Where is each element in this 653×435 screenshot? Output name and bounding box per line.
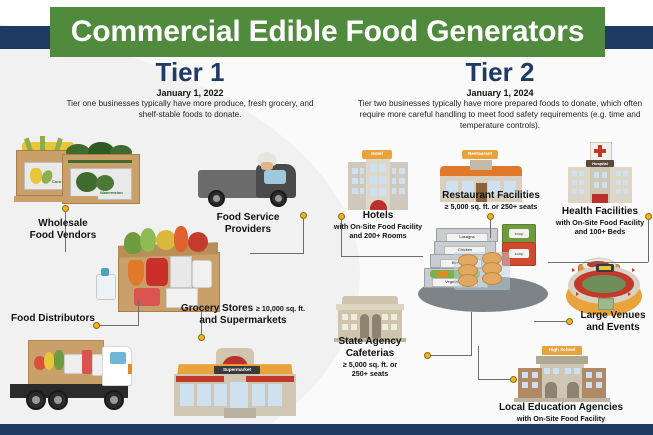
- wholesale-line2: Food Vendors: [8, 230, 118, 242]
- bottom-navy-band: [0, 424, 653, 435]
- stateagency-sub2: 250+ seats: [322, 369, 418, 378]
- foodservice-line1: Food Service: [196, 212, 300, 224]
- localeducation-line1: Local Education Agencies: [472, 402, 650, 414]
- dot-large-venues: [566, 318, 573, 325]
- largevenues-line2: and Events: [574, 322, 652, 334]
- health-sub1: with On-Site Food Facility: [552, 218, 648, 227]
- dot-food-service-providers: [300, 212, 307, 219]
- high-school-sign: High School: [542, 346, 582, 355]
- title-banner: Commercial Edible Food Generators: [50, 7, 605, 57]
- stateagency-line2: Cafeterias: [322, 348, 418, 360]
- connector-state-agency-h: [431, 355, 471, 356]
- dot-state-agency-cafeterias: [424, 352, 431, 359]
- crate-watermelon-label: Watermelon: [100, 190, 123, 195]
- hotel-sign: Hotel: [362, 150, 392, 159]
- largevenues-line1: Large Venues: [574, 310, 652, 322]
- connector-restaurant-v: [490, 220, 491, 238]
- connector-food-distributors-h: [100, 325, 138, 326]
- connector-local-education-h: [478, 379, 511, 380]
- restaurant-sub1: ≥ 5,000 sq. ft. or 250+ seats: [429, 202, 553, 211]
- label-hotels: Hotels with On-Site Food Facility and 20…: [330, 210, 426, 240]
- hotels-line1: Hotels: [330, 210, 426, 222]
- hotels-sub2: and 200+ Rooms: [330, 231, 426, 240]
- label-large-venues: Large Venues and Events: [574, 310, 652, 334]
- soup-red-label: soup: [515, 251, 524, 256]
- page-title: Commercial Edible Food Generators: [71, 15, 585, 49]
- crate-pallet: [14, 196, 98, 202]
- dot-grocery-stores: [198, 334, 205, 341]
- localeducation-sub1: with On-Site Food Facility: [472, 414, 650, 423]
- dot-local-education-agencies: [510, 376, 517, 383]
- hospital-sign: Hospital: [586, 160, 614, 167]
- grocery-line2: and Supermarkets: [172, 315, 314, 327]
- foodservice-line2: Providers: [196, 224, 300, 236]
- connector-local-education-v: [478, 346, 479, 380]
- hotels-sub1: with On-Site Food Facility: [330, 222, 426, 231]
- soup-container-green: soup: [502, 224, 536, 244]
- connector-hotels-h: [341, 256, 423, 257]
- tier2-heading: Tier 2 January 1, 2024: [400, 58, 600, 98]
- label-wholesale-food-vendors: Wholesale Food Vendors: [8, 218, 118, 242]
- grocery-line1: Grocery Stores: [181, 303, 253, 314]
- supermarket-sign: Supermarket: [214, 366, 260, 374]
- dot-wholesale-food-vendors: [62, 205, 69, 212]
- label-food-service-providers: Food Service Providers: [196, 212, 300, 236]
- tier2-date: January 1, 2024: [400, 88, 600, 98]
- connector-food-distributors-v: [138, 300, 139, 326]
- connector-large-venues-h: [534, 321, 567, 322]
- connector-health-v: [648, 220, 649, 262]
- health-sub2: and 100+ Beds: [552, 227, 648, 236]
- restaurant-sign: Restaurant: [462, 150, 498, 159]
- connector-state-agency-v: [471, 312, 472, 356]
- connector-food-service-v: [303, 219, 304, 253]
- infographic-canvas: Commercial Edible Food Generators Tier 1…: [0, 0, 653, 435]
- stateagency-sub1: ≥ 5,000 sq. ft. or: [322, 360, 418, 369]
- restaurant-line1: Restaurant Facilities: [429, 190, 553, 202]
- wholesale-line1: Wholesale: [8, 218, 118, 230]
- tier2-name: Tier 2: [400, 58, 600, 86]
- label-health-facilities: Health Facilities with On-Site Food Faci…: [552, 206, 648, 236]
- dot-restaurant-facilities: [487, 213, 494, 220]
- tier1-date: January 1, 2022: [90, 88, 290, 98]
- connector-health-h: [548, 262, 648, 263]
- label-restaurant-facilities: Restaurant Facilities ≥ 5,000 sq. ft. or…: [429, 190, 553, 211]
- fooddistributors-line1: Food Distributors: [10, 313, 96, 325]
- tier1-name: Tier 1: [90, 58, 290, 86]
- soup-green-label: soup: [515, 231, 524, 236]
- label-local-education-agencies: Local Education Agencies with On-Site Fo…: [472, 402, 650, 423]
- health-line1: Health Facilities: [552, 206, 648, 218]
- label-grocery-stores: Grocery Stores ≥ 10,000 sq. ft. and Supe…: [172, 303, 314, 327]
- label-state-agency-cafeterias: State Agency Cafeterias ≥ 5,000 sq. ft. …: [322, 336, 418, 378]
- connector-food-service-h: [250, 253, 304, 254]
- label-food-distributors: Food Distributors: [10, 313, 96, 325]
- crate-corn-label: Corn: [52, 179, 61, 184]
- grocery-line1-sub: ≥ 10,000 sq. ft.: [256, 304, 305, 313]
- tier1-description: Tier one businesses typically have more …: [60, 98, 320, 120]
- tier1-heading: Tier 1 January 1, 2022: [90, 58, 290, 98]
- tier2-description: Tier two businesses typically have more …: [350, 98, 650, 131]
- stateagency-line1: State Agency: [322, 336, 418, 348]
